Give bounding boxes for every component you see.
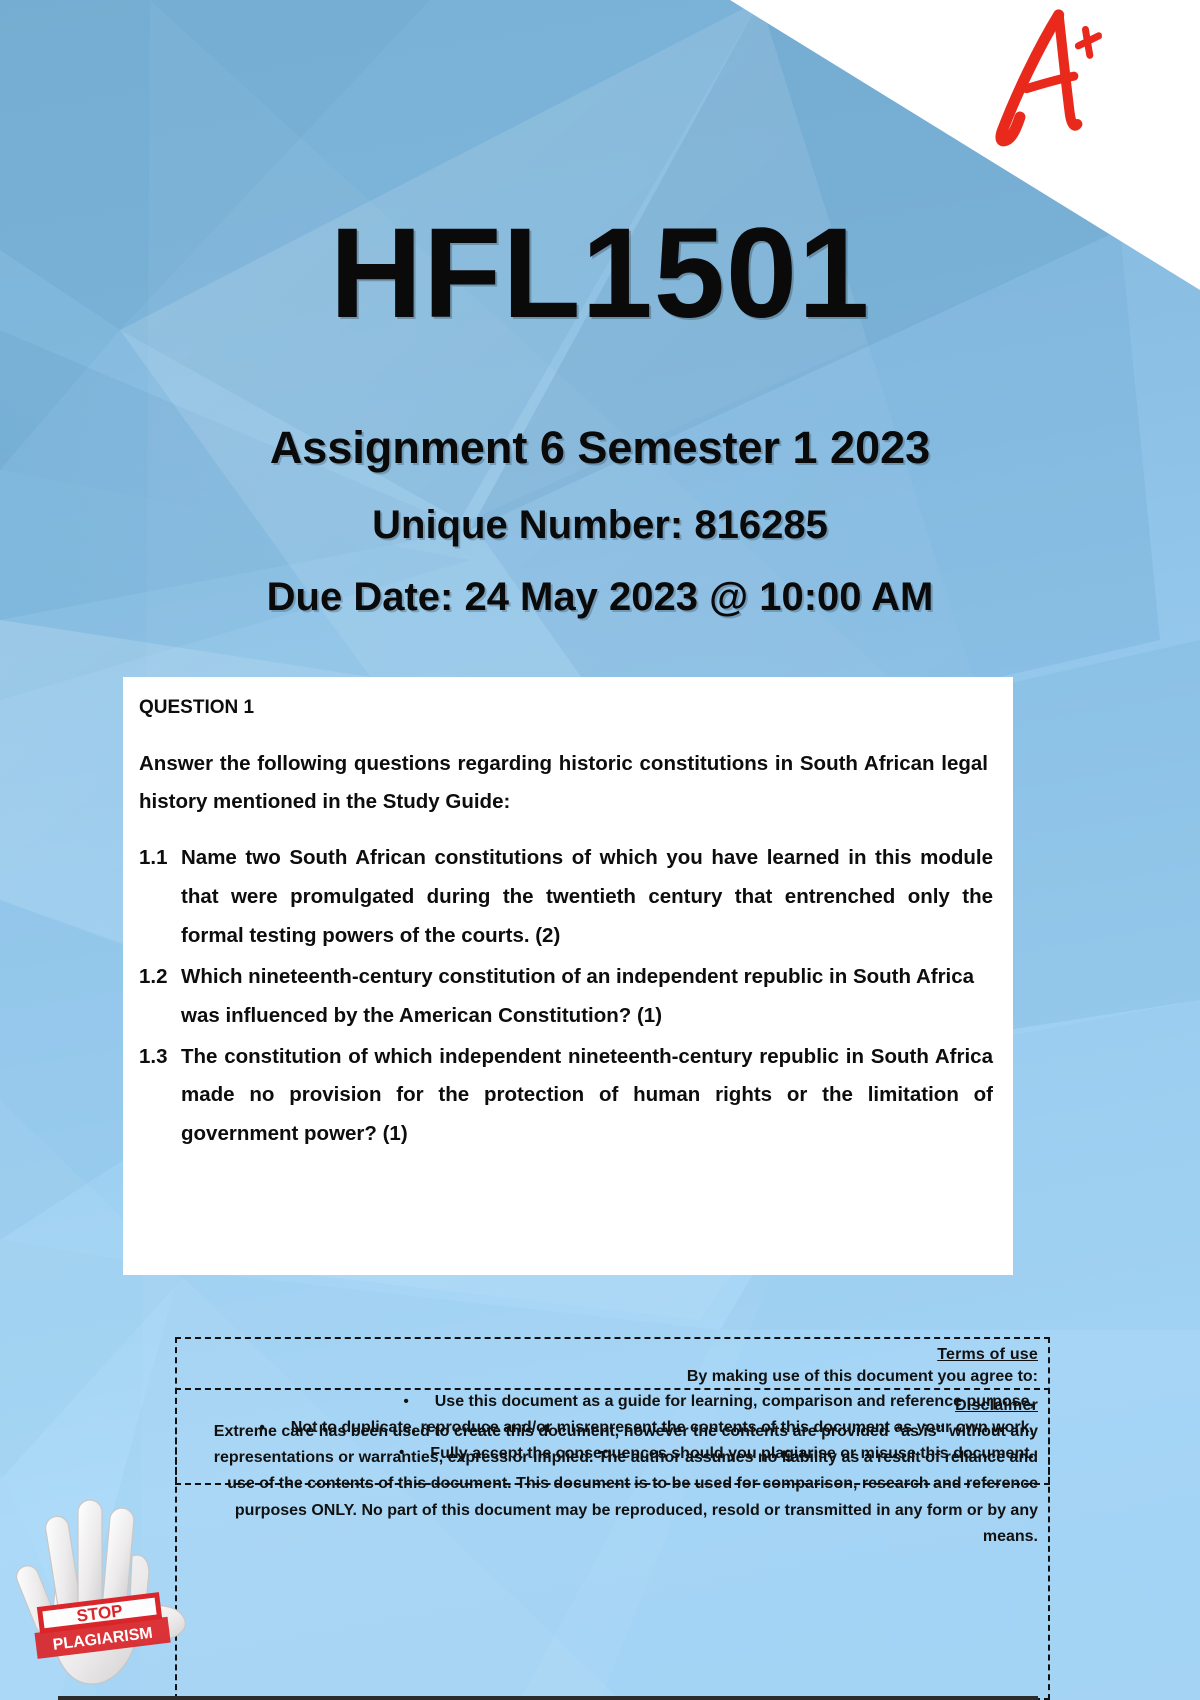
assignment-subtitle: Assignment 6 Semester 1 2023 [0, 422, 1200, 474]
disclaimer-title: Disclaimer [187, 1397, 1038, 1415]
module-code-title: HFL1501 [0, 210, 1200, 338]
terms-of-use-title: Terms of use [187, 1346, 1038, 1364]
question-number: 1.2 [139, 958, 181, 1036]
unique-number-subtitle: Unique Number: 816285 [0, 503, 1200, 548]
terms-of-use-lead: By making use of this document you agree… [187, 1368, 1038, 1386]
disclaimer-body: Extreme care has been used to create thi… [187, 1419, 1038, 1550]
question-item: 1.1 Name two South African constitutions… [139, 839, 993, 956]
question-text: Name two South African constitutions of … [181, 839, 993, 956]
disclaimer-box: Disclaimer Extreme care has been used to… [175, 1388, 1050, 1700]
question-panel: QUESTION 1 Answer the following question… [123, 677, 1013, 1275]
question-text: The constitution of which independent ni… [181, 1038, 993, 1155]
due-date-subtitle: Due Date: 24 May 2023 @ 10:00 AM [0, 575, 1200, 620]
question-item: 1.2 Which nineteenth-century constitutio… [139, 958, 993, 1036]
question-intro-text: Answer the following questions regarding… [139, 745, 988, 821]
page-bottom-edge [58, 1696, 1038, 1700]
stop-plagiarism-hand-icon: STOP PLAGIARISM [12, 1460, 202, 1700]
cover-heading-block: HFL1501 Assignment 6 Semester 1 2023 Uni… [0, 210, 1200, 620]
question-text: Which nineteenth-century constitution of… [181, 958, 993, 1036]
question-number: 1.1 [139, 839, 181, 956]
question-item: 1.3 The constitution of which independen… [139, 1038, 993, 1155]
question-number: 1.3 [139, 1038, 181, 1155]
a-plus-grade-icon [970, 1, 1108, 158]
question-heading: QUESTION 1 [139, 697, 993, 719]
document-cover-page: HFL1501 Assignment 6 Semester 1 2023 Uni… [0, 0, 1200, 1700]
